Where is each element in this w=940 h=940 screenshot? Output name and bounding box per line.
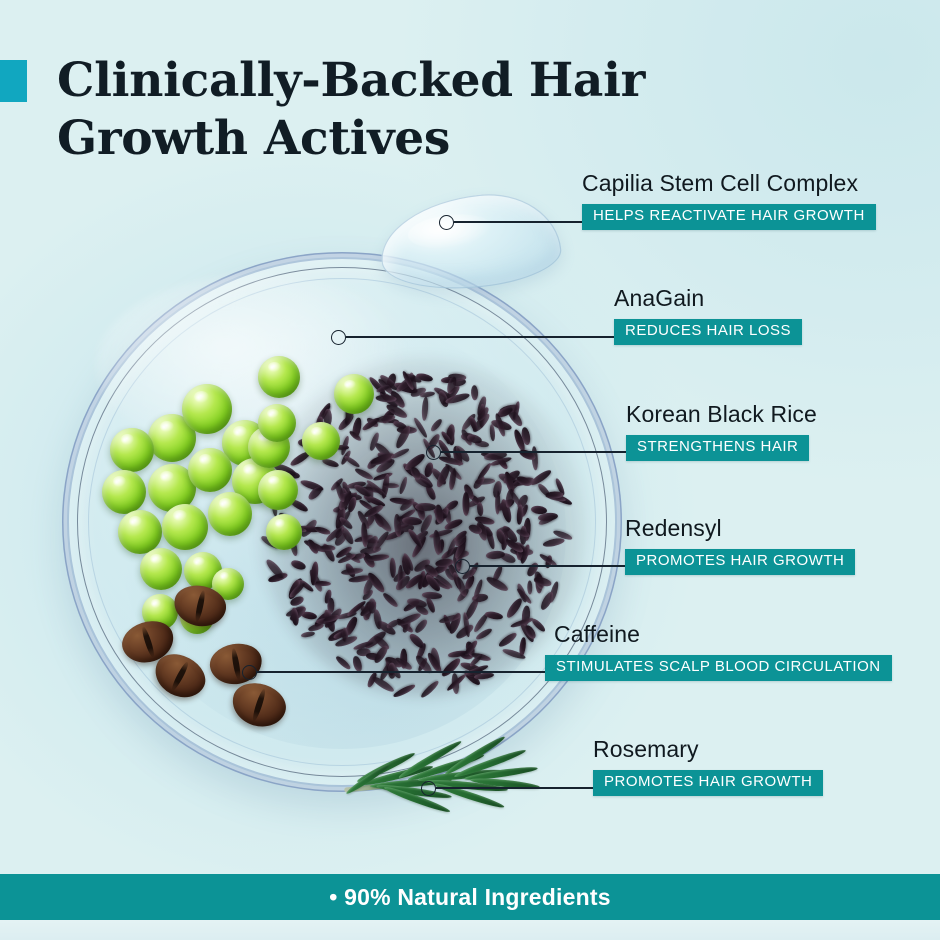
capsule-pearl <box>110 428 154 472</box>
callout-leader-line <box>441 451 626 453</box>
callout-korean-black-rice[interactable]: Korean Black Rice STRENGTHENS HAIR <box>626 403 817 461</box>
capsule-pearl <box>266 514 302 550</box>
title-line-2: Growth Actives <box>57 110 697 168</box>
callout-marker[interactable] <box>242 665 257 680</box>
callout-marker[interactable] <box>426 445 441 460</box>
callout-leader-line <box>454 221 582 223</box>
callout-leader-line <box>436 787 593 789</box>
callout-benefit-badge: REDUCES HAIR LOSS <box>614 319 802 345</box>
rice-grain <box>545 491 564 498</box>
rice-grain <box>320 544 336 550</box>
callout-benefit-badge: STIMULATES SCALP BLOOD CIRCULATION <box>545 655 892 681</box>
callout-benefit-badge: STRENGTHENS HAIR <box>626 435 809 461</box>
callout-benefit-badge: PROMOTES HAIR GROWTH <box>593 770 823 796</box>
callout-title: Korean Black Rice <box>626 403 817 426</box>
callout-benefit-badge: PROMOTES HAIR GROWTH <box>625 549 855 575</box>
bottom-banner: • 90% Natural Ingredients <box>0 874 940 920</box>
capsule-pearl <box>258 404 296 442</box>
callout-title: Capilia Stem Cell Complex <box>582 172 876 195</box>
capsule-pearl <box>140 548 182 590</box>
rice-grain <box>314 581 331 587</box>
capsule-pearl <box>334 374 374 414</box>
callout-title: Rosemary <box>593 738 823 761</box>
callout-rosemary[interactable]: Rosemary PROMOTES HAIR GROWTH <box>593 738 823 796</box>
capsule-pearl <box>118 510 162 554</box>
capsule-pearl <box>102 470 146 514</box>
capsule-pearl <box>258 356 300 398</box>
callout-marker[interactable] <box>439 215 454 230</box>
capsule-pearl <box>208 492 252 536</box>
callout-redensyl[interactable]: Redensyl PROMOTES HAIR GROWTH <box>625 517 855 575</box>
callout-caffeine[interactable]: Caffeine STIMULATES SCALP BLOOD CIRCULAT… <box>554 623 892 681</box>
infographic-canvas: Clinically-Backed Hair Growth Actives Ca… <box>0 0 940 940</box>
callout-marker[interactable] <box>331 330 346 345</box>
capsule-pearl <box>302 422 340 460</box>
page-title: Clinically-Backed Hair Growth Actives <box>57 52 697 168</box>
callout-leader-line <box>346 336 614 338</box>
title-line-1: Clinically-Backed Hair <box>57 53 645 108</box>
coffee-bean <box>227 677 291 734</box>
capsule-pearl <box>188 448 232 492</box>
callout-title: AnaGain <box>614 287 802 310</box>
callout-title: Redensyl <box>625 517 855 540</box>
capsule-pearl <box>162 504 208 550</box>
callout-benefit-badge: HELPS REACTIVATE HAIR GROWTH <box>582 204 876 230</box>
banner-text: • 90% Natural Ingredients <box>329 884 610 911</box>
callout-capilia-stem-cell-complex[interactable]: Capilia Stem Cell Complex HELPS REACTIVA… <box>582 172 876 230</box>
callout-title: Caffeine <box>554 623 892 646</box>
callout-marker[interactable] <box>455 559 470 574</box>
capsule-pearl <box>258 470 298 510</box>
callout-leader-line <box>470 565 625 567</box>
callout-marker[interactable] <box>421 781 436 796</box>
callout-anagain[interactable]: AnaGain REDUCES HAIR LOSS <box>614 287 802 345</box>
rosemary-sprig <box>336 726 526 826</box>
coffee-bean <box>207 640 265 688</box>
banner-bottom-strip <box>0 920 940 940</box>
callout-leader-line <box>257 671 545 673</box>
capsule-pearl <box>182 384 232 434</box>
title-accent-bar <box>0 60 27 102</box>
